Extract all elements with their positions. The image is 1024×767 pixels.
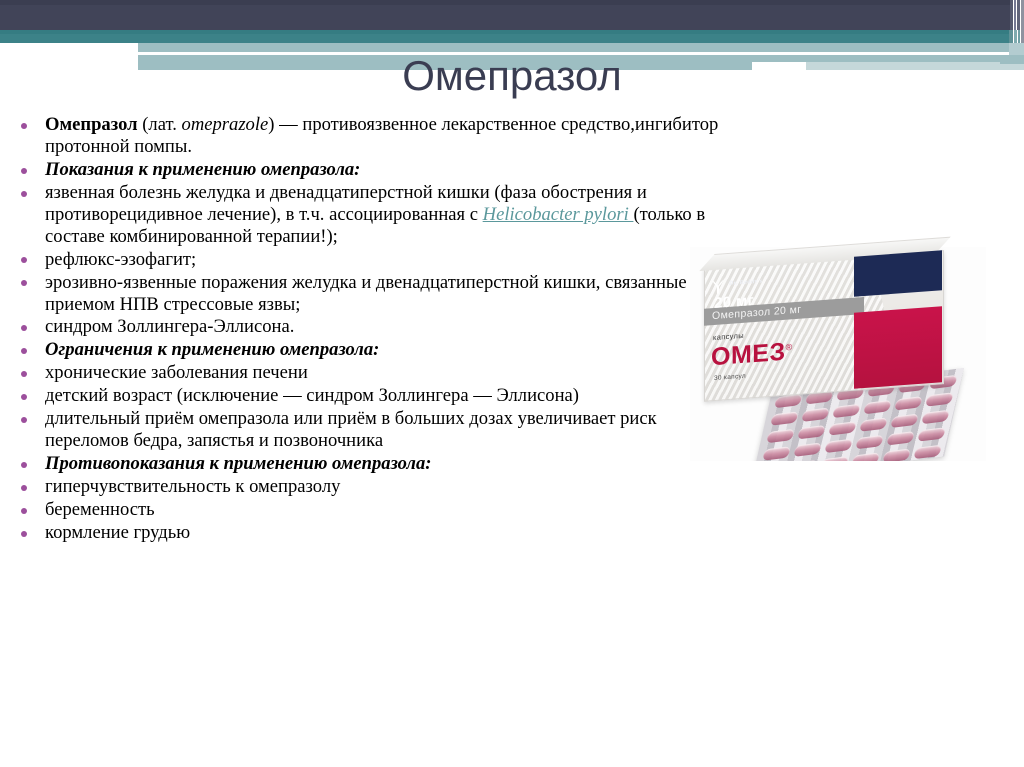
list-item-text: хронические заболевания печени <box>45 362 740 384</box>
helicobacter-pylori-link[interactable]: Helicobacter pylori <box>483 204 634 225</box>
header-band-dark-highlight <box>0 0 1010 5</box>
list-item: синдром Золлингера-Эллисона. <box>0 316 740 338</box>
bullet-dot-icon <box>21 462 27 468</box>
bullet-dot-icon <box>21 348 27 354</box>
blister-capsule <box>801 407 830 422</box>
blister-capsule <box>859 417 888 432</box>
photo-bottom-fade <box>690 461 986 492</box>
bullet-dot-icon <box>21 508 27 514</box>
blister-capsule <box>797 425 826 440</box>
list-item: Показания к применению омепразола: <box>0 159 740 181</box>
list-item-text: беременность <box>45 499 740 521</box>
blister-capsule <box>828 421 857 436</box>
carton-crimson-panel <box>854 306 942 388</box>
bullet-dot-icon <box>21 191 27 197</box>
list-item-text: детский возраст (исключение — синдром Зо… <box>45 385 740 407</box>
header-band-dark <box>0 0 1010 30</box>
blister-capsule <box>863 400 892 415</box>
blister-capsule <box>925 392 954 407</box>
list-item-text: гиперчувствительность к омепразолу <box>45 476 740 498</box>
list-item-text: рефлюкс-эзофагит; <box>45 249 740 271</box>
bullet-dot-icon <box>21 417 27 423</box>
blister-capsule <box>890 414 919 429</box>
list-item-text: синдром Золлингера-Эллисона. <box>45 316 740 338</box>
blister-capsule <box>917 427 946 442</box>
blister-capsule <box>855 435 884 450</box>
carton-brand-label: ОМЕЗ® <box>711 337 793 372</box>
bullet-dot-icon <box>21 280 27 286</box>
list-item: длительный приём омепразола или приём в … <box>0 408 740 452</box>
blister-capsule <box>921 410 950 425</box>
bullet-dot-icon <box>21 168 27 174</box>
slide-body: Омепразол (лат. omeprazole) — противоязв… <box>0 114 740 545</box>
list-item: язвенная болезнь желудка и двенадцатипер… <box>0 182 740 248</box>
bullet-dot-icon <box>21 325 27 331</box>
list-item: детский возраст (исключение — синдром Зо… <box>0 385 740 407</box>
bullet-dot-icon <box>21 371 27 377</box>
blister-capsule <box>832 404 861 419</box>
header-sliver-2 <box>1014 0 1016 34</box>
list-item-text: длительный приём омепразола или приём в … <box>45 408 740 452</box>
blister-capsule <box>913 445 942 460</box>
bullet-dot-icon <box>21 257 27 263</box>
blister-capsule <box>793 442 822 457</box>
header-band-teal-shade <box>0 30 1009 34</box>
blister-capsule <box>894 396 923 411</box>
list-item-text: Показания к применению омепразола: <box>45 159 740 181</box>
bullet-dot-icon <box>21 485 27 491</box>
blister-capsule <box>770 411 799 426</box>
blister-capsule <box>762 446 791 461</box>
dr-reddys-logo-icon <box>711 278 725 295</box>
list-item-text: Омепразол (лат. omeprazole) — противоязв… <box>45 114 740 158</box>
list-item: кормление грудью <box>0 522 740 544</box>
header-sliver-1 <box>1010 0 1013 30</box>
header-band-teal <box>0 30 1009 43</box>
list-item: беременность <box>0 499 740 521</box>
list-item-text: Ограничения к применению омепразола: <box>45 339 740 361</box>
blister-capsule <box>766 429 795 444</box>
list-item: рефлюкс-эзофагит; <box>0 249 740 271</box>
list-item: хронические заболевания печени <box>0 362 740 384</box>
slide: Омепразол Омепразол (лат. omeprazole) — … <box>0 0 1024 767</box>
bullet-list: Омепразол (лат. omeprazole) — противоязв… <box>0 114 740 544</box>
list-item: гиперчувствительность к омепразолу <box>0 476 740 498</box>
header-sliver-3 <box>1017 0 1020 30</box>
carton-brand-text: ОМЕЗ <box>711 338 786 371</box>
list-item-text: Противопоказания к применению омепразола… <box>45 453 740 475</box>
blister-capsule <box>824 439 853 454</box>
carton-navy-panel <box>854 250 942 296</box>
list-item-text: эрозивно-язвенные поражения желудка и дв… <box>45 272 740 316</box>
list-item-text: язвенная болезнь желудка и двенадцатипер… <box>45 182 740 248</box>
header-sliver-5 <box>1009 30 1013 43</box>
slide-title: Омепразол <box>0 52 1024 100</box>
bullet-dot-icon <box>21 394 27 400</box>
list-item-text: кормление грудью <box>45 522 740 544</box>
list-item: Омепразол (лат. omeprazole) — противоязв… <box>0 114 740 158</box>
carton-brand-mark: ® <box>786 342 793 353</box>
list-item: Ограничения к применению омепразола: <box>0 339 740 361</box>
product-photo: Dr. Reddy's 20 мг Омепразол 20 мг капсул… <box>690 247 986 492</box>
list-item: Противопоказания к применению омепразола… <box>0 453 740 475</box>
bullet-dot-icon <box>21 531 27 537</box>
list-item: эрозивно-язвенные поражения желудка и дв… <box>0 272 740 316</box>
blister-capsule <box>886 431 915 446</box>
header-sliver-7 <box>1018 30 1020 48</box>
medicine-carton-image: Dr. Reddy's 20 мг Омепразол 20 мг капсул… <box>704 250 942 399</box>
bullet-dot-icon <box>21 123 27 129</box>
